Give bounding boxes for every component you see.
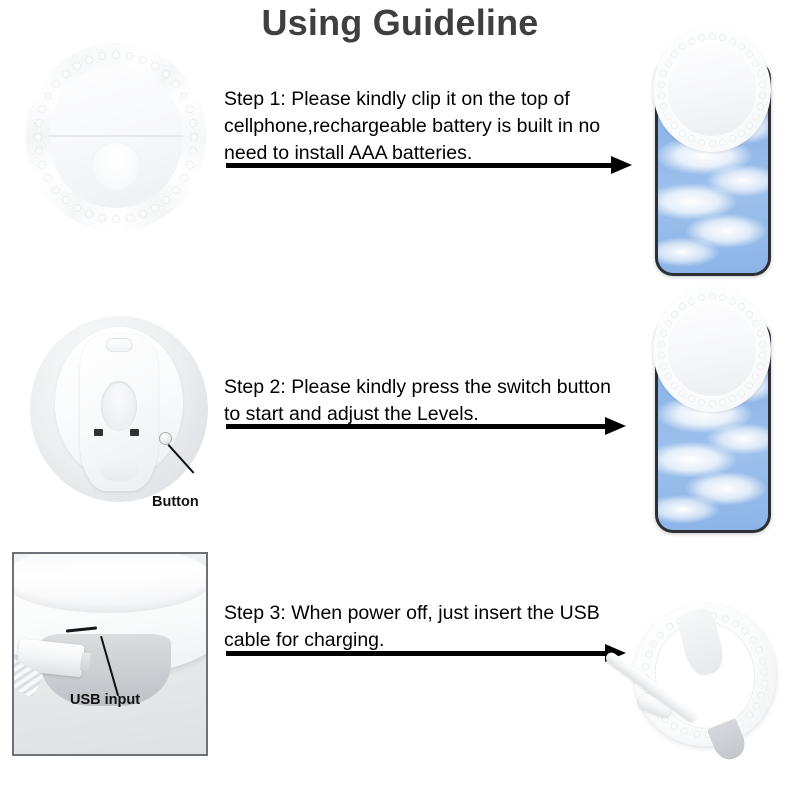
led-dot xyxy=(35,134,41,140)
step-1-arrow xyxy=(226,155,632,177)
led-dot xyxy=(758,71,763,76)
led-dot xyxy=(666,374,671,379)
led-dot xyxy=(74,63,80,69)
led-dot xyxy=(659,342,664,347)
led-dot xyxy=(190,120,196,126)
led-dot xyxy=(760,93,765,98)
led-dot xyxy=(758,331,763,336)
infographic-page: Using Guideline Step 1: Please kindly cl… xyxy=(0,0,800,800)
ring-light-back-view-image xyxy=(30,316,208,502)
ring-light-body-arc xyxy=(12,552,208,613)
step-2-arrow xyxy=(226,416,626,438)
arrow-shaft xyxy=(226,424,606,429)
usb-input-callout-label: USB input xyxy=(70,692,140,708)
led-dot xyxy=(187,162,193,168)
led-dot xyxy=(680,131,685,136)
led-dot xyxy=(666,321,671,326)
led-dot xyxy=(689,39,694,44)
led-dot xyxy=(672,312,677,317)
led-dot xyxy=(689,299,694,304)
led-dot xyxy=(699,400,704,405)
button-callout-label: Button xyxy=(152,494,199,510)
ring-light-camera-aperture xyxy=(91,141,141,190)
led-dot xyxy=(730,299,735,304)
led-dot xyxy=(127,215,133,221)
led-dot xyxy=(710,141,715,146)
led-dot xyxy=(163,197,169,203)
led-dot xyxy=(99,215,105,221)
ring-light-charging-image xyxy=(634,604,776,746)
led-dot xyxy=(720,140,725,145)
led-dot xyxy=(181,175,187,181)
led-dot xyxy=(666,61,671,66)
arrow-shaft xyxy=(226,651,606,656)
led-dot xyxy=(53,187,59,193)
led-dot xyxy=(672,52,677,57)
led-dot xyxy=(760,353,765,358)
led-dot xyxy=(758,364,763,369)
led-dot xyxy=(140,57,146,63)
ring-light-front-view-image xyxy=(26,43,206,231)
contact-pad-left xyxy=(94,429,103,436)
clip-ring-aperture xyxy=(684,60,741,120)
led-dot xyxy=(710,34,715,39)
led-dot xyxy=(758,104,763,109)
ring-light-clipped-on-phone-2 xyxy=(653,288,771,412)
led-dot xyxy=(710,401,715,406)
clip-hinge-tab xyxy=(106,338,133,352)
led-dot xyxy=(173,187,179,193)
arrow-head-icon xyxy=(605,417,626,435)
led-dot xyxy=(739,391,744,396)
led-dot xyxy=(666,114,671,119)
led-dot xyxy=(739,131,744,136)
led-dot xyxy=(710,294,715,299)
led-dot xyxy=(74,205,80,211)
led-dot xyxy=(181,93,187,99)
led-dot xyxy=(672,383,677,388)
led-dot xyxy=(699,140,704,145)
led-dot xyxy=(680,391,685,396)
clip-center-hole xyxy=(101,381,137,431)
step-3-arrow xyxy=(226,643,626,665)
clip-ring-aperture xyxy=(684,320,741,380)
arrow-shaft xyxy=(226,163,612,168)
led-dot xyxy=(113,216,119,222)
usb-port-closeup-photo: USB input xyxy=(12,552,208,756)
led-dot xyxy=(63,197,69,203)
ring-light-clipped-on-phone-1 xyxy=(653,28,771,152)
clip-grip-pad xyxy=(100,460,138,482)
led-dot xyxy=(140,211,146,217)
led-dot xyxy=(760,342,765,347)
led-dot xyxy=(152,205,158,211)
contact-pad-right xyxy=(130,429,139,436)
phone-clip-body xyxy=(80,335,158,491)
led-dot xyxy=(760,82,765,87)
ring-light-seam-line xyxy=(49,135,182,137)
led-dot xyxy=(730,39,735,44)
led-dot xyxy=(672,123,677,128)
arrow-head-icon xyxy=(611,156,632,174)
led-dot xyxy=(659,82,664,87)
led-dot xyxy=(36,120,42,126)
led-dot xyxy=(720,400,725,405)
led-dot xyxy=(187,106,193,112)
